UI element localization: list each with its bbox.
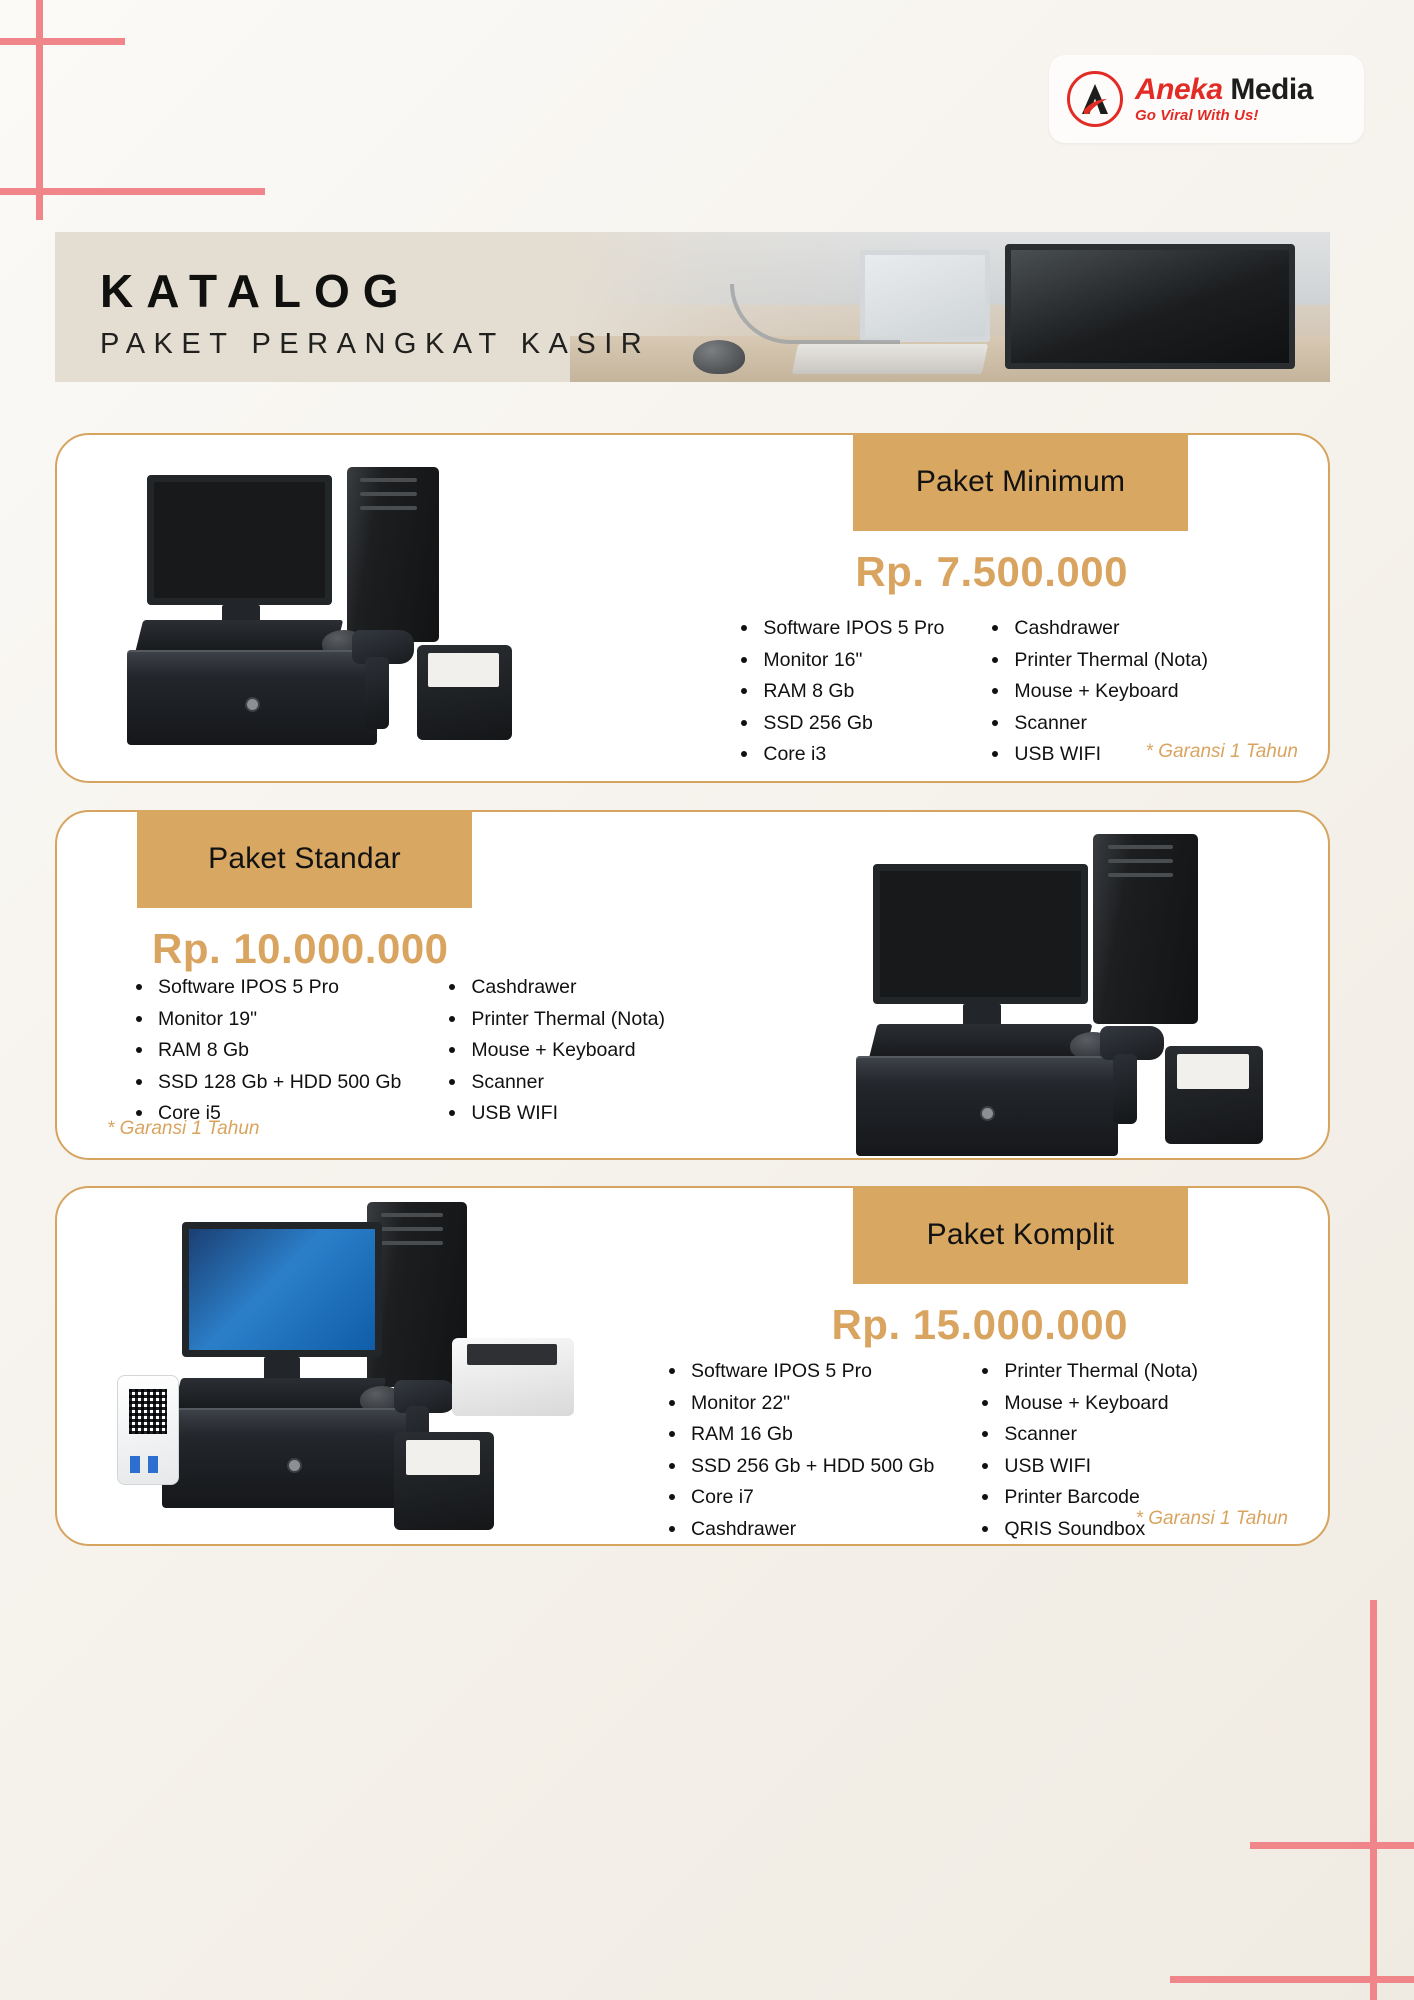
spec-item: Software IPOS 5 Pro [737,613,944,645]
spec-item: RAM 8 Gb [737,676,944,708]
photo-keyboard [869,1024,1093,1060]
package-name-badge: Paket Minimum [853,433,1188,531]
spec-item: Printer Thermal (Nota) [445,1004,665,1036]
brand-name: Aneka Media [1135,74,1313,106]
spec-item: SSD 256 Gb + HDD 500 Gb [665,1451,934,1483]
package-specs: Software IPOS 5 Pro Monitor 16" RAM 8 Gb… [737,613,1208,771]
photo-cashdrawer [127,650,377,745]
spec-item: Mouse + Keyboard [978,1388,1198,1420]
brand-tagline: Go Viral With Us! [1135,108,1313,124]
photo-keyboard [135,620,343,654]
photo-qr-code [129,1389,167,1434]
decor-line-bottom-right-vertical [1370,1600,1377,2000]
spec-item: RAM 8 Gb [132,1035,401,1067]
decor-line-top-left-vertical [36,0,43,220]
photo-pc-tower [347,467,439,642]
package-specs: Software IPOS 5 Pro Monitor 19" RAM 8 Gb… [132,972,665,1130]
photo-cashdrawer [162,1408,427,1508]
photo-receipt-paper [1177,1054,1250,1089]
decor-line-bottom-right-upper [1250,1842,1414,1849]
package-price: Rp. 15.000.000 [831,1301,1128,1349]
spec-item: Scanner [445,1067,665,1099]
decor-line-top-left-upper [0,38,125,45]
aneka-a-logo-icon [1067,71,1123,127]
package-price: Rp. 7.500.000 [855,548,1128,596]
spec-item: Cashdrawer [665,1514,934,1546]
photo-thermal-printer [417,645,512,740]
warranty-note: * Garansi 1 Tahun [1146,741,1298,763]
spec-item: Monitor 22" [665,1388,934,1420]
spec-item: USB WIFI [978,1451,1198,1483]
photo-pc-tower [1093,834,1198,1024]
catalog-banner: KATALOG PAKET PERANGKAT KASIR [55,232,1330,382]
photo-main-monitor [1005,244,1295,369]
brand-text: Aneka Media Go Viral With Us! [1135,74,1313,124]
spec-item: Monitor 16" [737,645,944,677]
spec-item: Mouse + Keyboard [445,1035,665,1067]
product-photo-komplit [72,1200,632,1545]
brand-logo: Aneka Media Go Viral With Us! [1049,55,1364,143]
photo-barcode-printer [452,1338,574,1416]
spec-item: Cashdrawer [445,972,665,1004]
spec-item: Printer Thermal (Nota) [978,1356,1198,1388]
banner-photo-office-desk [570,232,1330,382]
photo-thermal-printer [1165,1046,1263,1144]
photo-keyboard [173,1378,386,1412]
photo-receipt-paper [406,1440,480,1475]
spec-item: Scanner [978,1419,1198,1451]
photo-monitor [147,475,332,605]
catalog-page: Aneka Media Go Viral With Us! KATALOG PA… [0,0,1414,2000]
photo-soundbox-buttons [130,1456,166,1473]
photo-cashdrawer [856,1056,1118,1156]
brand-name-primary: Aneka [1135,73,1223,106]
page-title: KATALOG [100,266,650,318]
photo-mouse [693,340,745,374]
package-name-badge: Paket Komplit [853,1186,1188,1284]
photo-cable [730,284,900,344]
brand-name-secondary: Media [1223,73,1313,106]
product-photo-standar [838,834,1258,1134]
spec-item: Core i7 [665,1482,934,1514]
spec-item: SSD 256 Gb [737,708,944,740]
package-price: Rp. 10.000.000 [152,925,449,973]
package-card-komplit[interactable]: Paket Komplit Rp. 15.000.000 Software IP… [55,1186,1330,1546]
photo-keyboard [792,344,988,374]
photo-receipt-paper [428,653,498,687]
decor-line-bottom-right-lower [1170,1976,1414,1983]
spec-item: USB WIFI [445,1098,665,1130]
photo-barcode-slot [467,1344,557,1364]
spec-item: Software IPOS 5 Pro [665,1356,934,1388]
photo-scanner-handle [1113,1054,1137,1124]
photo-thermal-printer [394,1432,494,1530]
spec-item: Monitor 19" [132,1004,401,1036]
specs-column-1: Software IPOS 5 Pro Monitor 22" RAM 16 G… [665,1356,934,1545]
spec-item: Software IPOS 5 Pro [132,972,401,1004]
specs-column-2: Cashdrawer Printer Thermal (Nota) Mouse … [445,972,665,1130]
decor-line-top-left-lower [0,188,265,195]
product-photo-minimum [117,465,537,755]
page-subtitle: PAKET PERANGKAT KASIR [100,328,650,361]
specs-column-1: Software IPOS 5 Pro Monitor 19" RAM 8 Gb… [132,972,401,1130]
package-specs: Software IPOS 5 Pro Monitor 22" RAM 16 G… [665,1356,1198,1545]
spec-item: SSD 128 Gb + HDD 500 Gb [132,1067,401,1099]
spec-item: Printer Thermal (Nota) [988,645,1208,677]
spec-item: Scanner [988,708,1208,740]
package-name-badge: Paket Standar [137,810,472,908]
photo-monitor [182,1222,382,1357]
spec-item: Mouse + Keyboard [988,676,1208,708]
specs-column-1: Software IPOS 5 Pro Monitor 16" RAM 8 Gb… [737,613,944,771]
photo-monitor [873,864,1088,1004]
spec-item: Cashdrawer [988,613,1208,645]
warranty-note: * Garansi 1 Tahun [107,1118,259,1140]
package-card-standar[interactable]: Paket Standar Rp. 10.000.000 Software IP… [55,810,1330,1160]
photo-scanner-handle [365,657,389,729]
banner-text-block: KATALOG PAKET PERANGKAT KASIR [100,266,650,361]
photo-qris-soundbox [117,1375,179,1485]
warranty-note: * Garansi 1 Tahun [1136,1508,1288,1530]
spec-item: RAM 16 Gb [665,1419,934,1451]
spec-item: Core i3 [737,739,944,771]
package-card-minimum[interactable]: Paket Minimum Rp. 7.500.000 Software IPO… [55,433,1330,783]
